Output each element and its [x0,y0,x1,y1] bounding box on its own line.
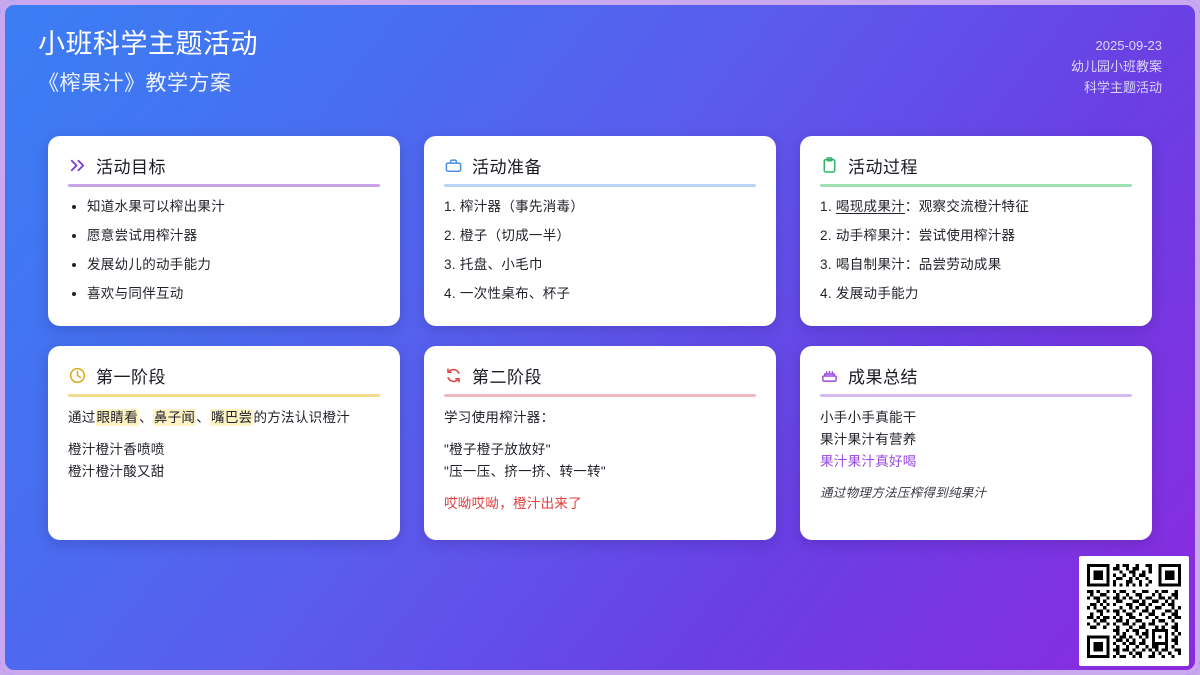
highlight-eyes: 眼睛看 [96,409,139,426]
preparation-list: 榨汁器（事先消毒） 橙子（切成一半） 托盘、小毛巾 一次性桌布、杯子 [444,198,756,302]
card-title: 活动目标 [96,153,166,178]
page-subtitle: 《榨果汁》教学方案 [38,69,258,99]
list-item: 发展动手能力 [820,285,1132,302]
slide-inner: 小班科学主题活动 《榨果汁》教学方案 2025-09-23 幼儿园小班教案 科学… [5,5,1195,670]
briefcase-icon [444,156,463,175]
card-results-summary[interactable]: 成果总结 小手小手真能干 果汁果汁有营养 果汁果汁真好喝 通过物理方法压榨得到纯… [800,346,1152,540]
list-item: 喝现成果汁：观察交流橙汁特征 [820,198,1132,215]
chant-line-2: 橙汁橙汁酸又甜 [68,462,380,481]
meta-category: 幼儿园小班教案 [1071,56,1162,77]
refresh-cycle-icon [444,366,463,385]
cake-icon [820,366,839,385]
list-item: 动手榨果汁：尝试使用榨汁器 [820,227,1132,244]
page-title: 小班科学主题活动 [38,27,258,61]
card-accent-rule [820,394,1132,397]
card-accent-rule [444,394,756,397]
card-header: 成果总结 [820,363,1132,393]
card-accent-rule [820,184,1132,187]
list-item: 橙子（切成一半） [444,227,756,244]
stage-two-quote-1: "橙子橙子放放好" [444,440,756,459]
sentence-sep1: 、 [139,410,153,425]
stage-two-quote-2: "压一压、挤一挤、转一转" [444,462,756,481]
sentence-post: 的方法认识橙汁 [253,410,350,425]
highlight-mouth: 嘴巴尝 [210,409,253,426]
summary-note: 通过物理方法压榨得到纯果汁 [820,484,1132,503]
stage-one-sentence: 通过眼睛看、鼻子闻、嘴巴尝的方法认识橙汁 [68,408,380,427]
list-item: 一次性桌布、杯子 [444,285,756,302]
process-step-rest: ：观察交流橙汁特征 [905,199,1029,214]
process-list: 喝现成果汁：观察交流橙汁特征 动手榨果汁：尝试使用榨汁器 喝自制果汁：品尝劳动成… [820,198,1132,302]
clock-icon [68,366,87,385]
slide-root: 小班科学主题活动 《榨果汁》教学方案 2025-09-23 幼儿园小班教案 科学… [0,0,1200,675]
card-header: 第一阶段 [68,363,380,393]
card-header: 活动过程 [820,153,1132,183]
card-title: 第二阶段 [472,363,542,388]
clipboard-icon [820,156,839,175]
stage-two-lead: 学习使用榨汁器： [444,408,756,427]
list-item: 喜欢与同伴互动 [87,285,380,302]
process-step-keyword: 喝现成果汁 [836,199,905,214]
list-item: 喝自制果汁：品尝劳动成果 [820,256,1132,273]
summary-line-3: 果汁果汁真好喝 [820,452,1132,471]
list-item: 发展幼儿的动手能力 [87,256,380,273]
chant-line-1: 橙汁橙汁香喷喷 [68,440,380,459]
card-grid: 活动目标 知道水果可以榨出果汁 愿意尝试用榨汁器 发展幼儿的动手能力 喜欢与同伴… [48,136,1157,540]
chevron-double-right-icon [68,156,87,175]
summary-line-1: 小手小手真能干 [820,408,1132,427]
sentence-sep2: 、 [196,410,210,425]
card-accent-rule [68,184,380,187]
list-item: 托盘、小毛巾 [444,256,756,273]
card-accent-rule [444,184,756,187]
list-item: 知道水果可以榨出果汁 [87,198,380,215]
card-title: 活动过程 [848,153,918,178]
card-activity-goals[interactable]: 活动目标 知道水果可以榨出果汁 愿意尝试用榨汁器 发展幼儿的动手能力 喜欢与同伴… [48,136,400,326]
card-stage-two[interactable]: 第二阶段 学习使用榨汁器： "橙子橙子放放好" "压一压、挤一挤、转一转" 哎呦… [424,346,776,540]
highlight-nose: 鼻子闻 [153,409,196,426]
list-item: 榨汁器（事先消毒） [444,198,756,215]
header-meta: 2025-09-23 幼儿园小班教案 科学主题活动 [1071,35,1162,98]
card-activity-process[interactable]: 活动过程 喝现成果汁：观察交流橙汁特征 动手榨果汁：尝试使用榨汁器 喝自制果汁：… [800,136,1152,326]
qr-code[interactable] [1079,556,1189,666]
card-title: 活动准备 [472,153,542,178]
stage-two-exclaim: 哎呦哎呦，橙汁出来了 [444,494,756,513]
meta-date: 2025-09-23 [1071,35,1162,56]
card-header: 第二阶段 [444,363,756,393]
meta-theme: 科学主题活动 [1071,77,1162,98]
card-header: 活动目标 [68,153,380,183]
card-accent-rule [68,394,380,397]
card-activity-preparation[interactable]: 活动准备 榨汁器（事先消毒） 橙子（切成一半） 托盘、小毛巾 一次性桌布、杯子 [424,136,776,326]
card-title: 第一阶段 [96,363,166,388]
goal-list: 知道水果可以榨出果汁 愿意尝试用榨汁器 发展幼儿的动手能力 喜欢与同伴互动 [68,198,380,302]
list-item: 愿意尝试用榨汁器 [87,227,380,244]
card-title: 成果总结 [848,363,918,388]
card-stage-one[interactable]: 第一阶段 通过眼睛看、鼻子闻、嘴巴尝的方法认识橙汁 橙汁橙汁香喷喷 橙汁橙汁酸又… [48,346,400,540]
sentence-pre: 通过 [68,410,96,425]
header: 小班科学主题活动 《榨果汁》教学方案 [38,27,258,99]
summary-line-2: 果汁果汁有营养 [820,430,1132,449]
card-header: 活动准备 [444,153,756,183]
